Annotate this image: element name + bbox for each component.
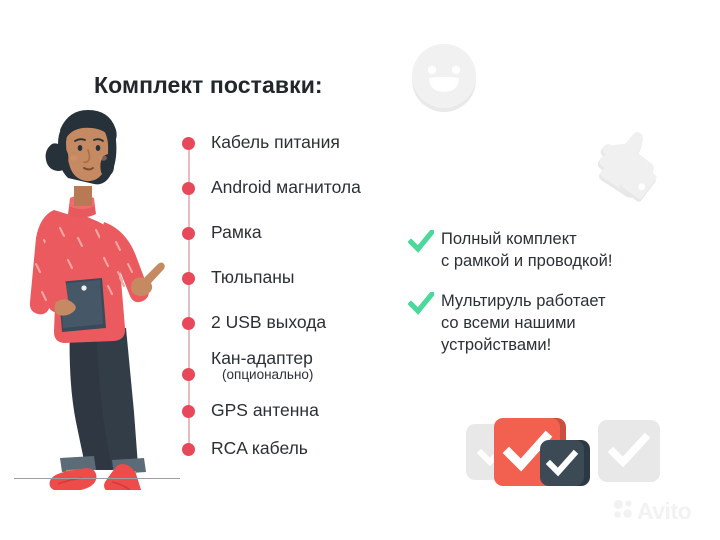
checkbox-tile-navy [540,440,584,486]
benefit-line-2: с рамкой и проводкой! [441,252,612,270]
list-item-sublabel: (опционально) [222,366,313,384]
list-item-label: GPS антенна [211,398,319,422]
checkbox-tiles-group [466,418,666,488]
thumbs-up-icon [569,106,673,210]
benefit-line-3: устройствами! [441,336,551,354]
benefit-line-2: со всеми нашими [441,314,576,332]
promo-image: Комплект поставки: Кабель питания Androi… [0,0,720,540]
bullet-dot-icon [182,182,195,195]
avito-watermark: Avito [612,498,691,525]
list-item-label: Android магнитола [211,175,361,199]
bullet-dot-icon [182,405,195,418]
list-item-label: Рамка [211,220,262,244]
list-item: Кан-адаптер (опционально) [176,346,416,372]
checkbox-tile-gray-right [598,420,660,482]
bullet-dot-icon [182,137,195,150]
ground-line [14,478,180,479]
list-item: Android магнитола [176,175,416,201]
bullet-dot-icon [182,227,195,240]
list-item: GPS антенна [176,398,416,424]
benefit-line-1: Полный комплект [441,230,577,248]
list-item-label: 2 USB выхода [211,310,326,334]
page-title: Комплект поставки: [94,72,323,99]
list-item: Кабель питания [176,130,416,156]
benefit-line: Полный комплект с рамкой и проводкой! [441,228,612,272]
list-item: Тюльпаны [176,265,416,291]
benefit-line: Мультируль работает со всеми нашими устр… [441,290,606,356]
bullet-dot-icon [182,317,195,330]
benefit-line-1: Мультируль работает [441,292,606,310]
list-item-label: Тюльпаны [211,265,294,289]
bullet-dot-icon [182,272,195,285]
avito-dots-logo-icon [612,498,634,525]
supply-kit-list: Кабель питания Android магнитола Рамка Т… [176,130,416,462]
avito-wordmark: Avito [637,500,691,523]
list-item: Рамка [176,220,416,246]
bullet-dot-icon [182,443,195,456]
list-item-label: Кабель питания [211,130,340,154]
list-item: 2 USB выхода [176,310,416,336]
check-icon [408,292,434,316]
list-item: RCA кабель [176,436,416,462]
list-item-label: RCA кабель [211,436,308,460]
smiley-face-icon [408,42,480,114]
woman-pointing-with-tablet [8,100,188,490]
bullet-dot-icon [182,368,195,381]
check-icon [408,230,434,254]
